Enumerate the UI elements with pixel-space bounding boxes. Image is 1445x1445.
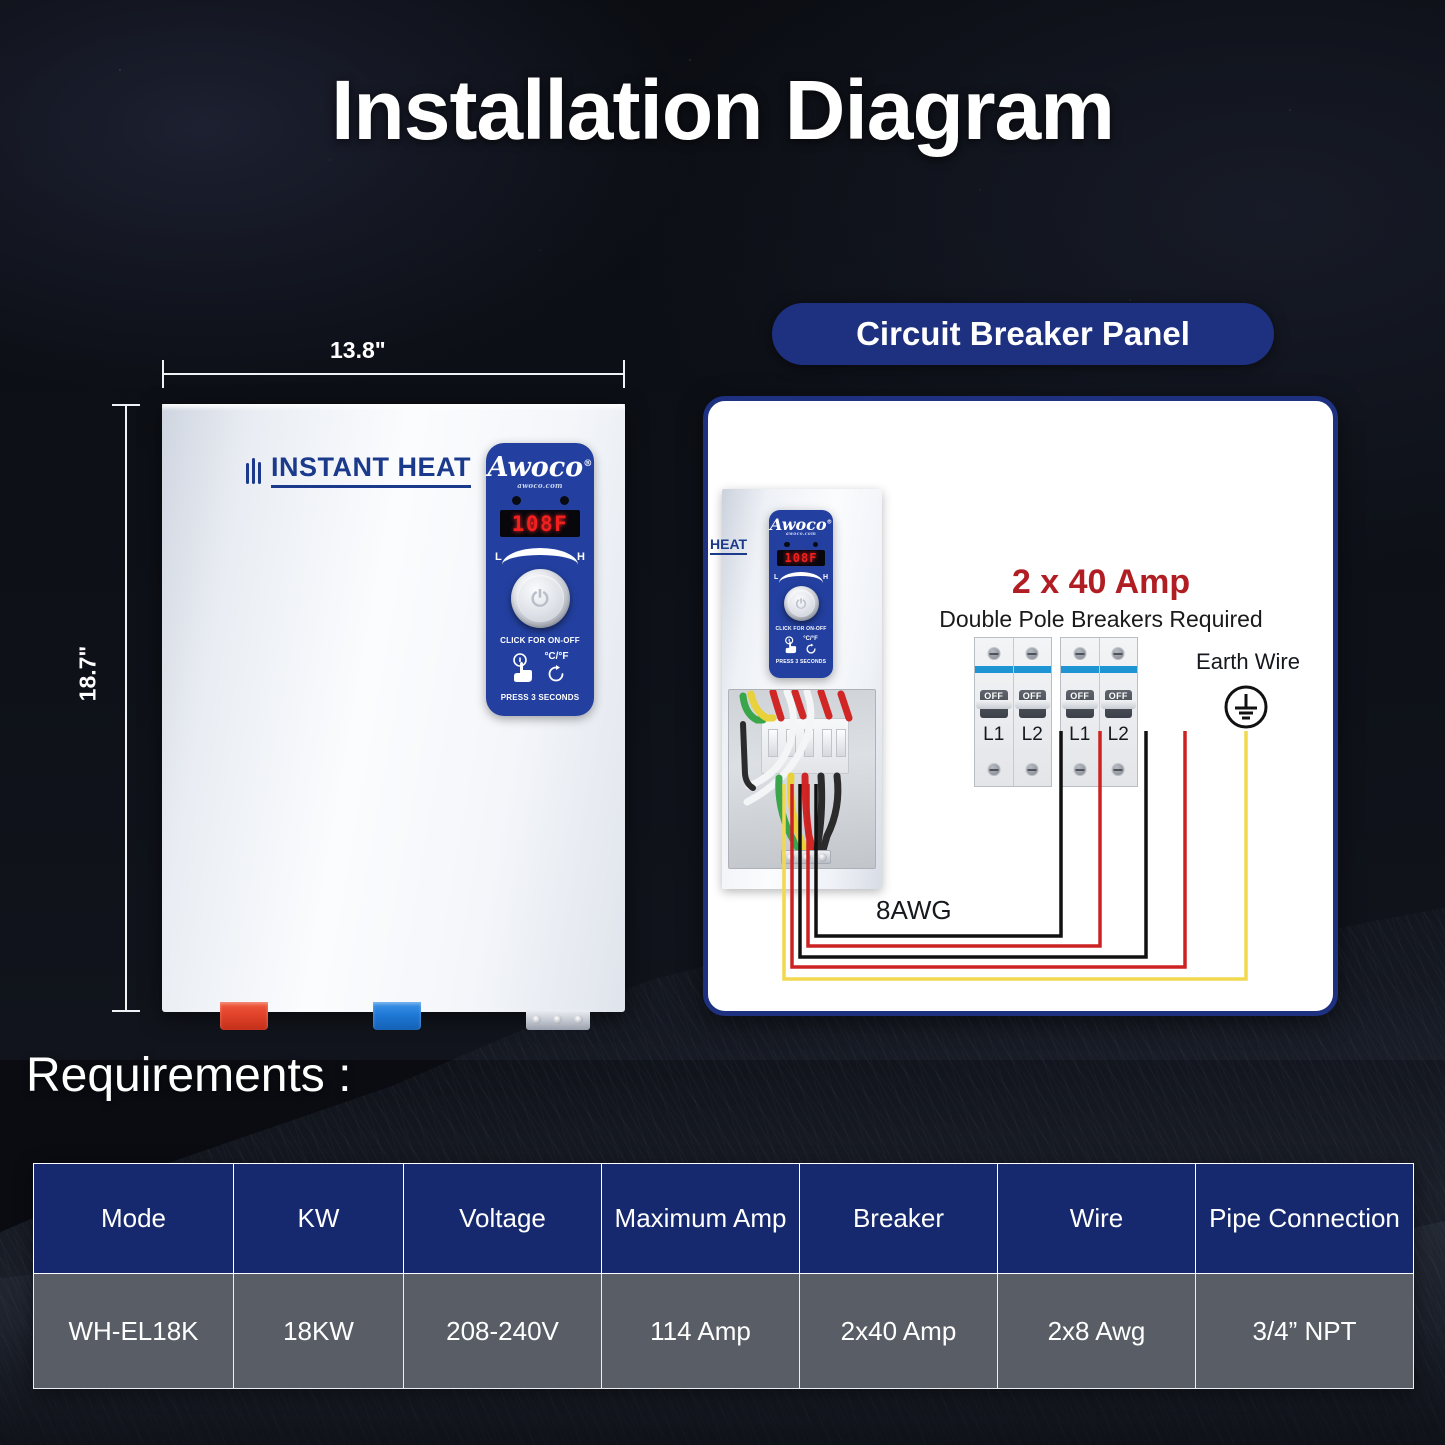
hot-outlet-fitting xyxy=(220,1002,268,1030)
requirements-heading: Requirements : xyxy=(26,1048,351,1103)
mounting-bracket xyxy=(526,1010,590,1030)
column-header-voltage: Voltage xyxy=(404,1164,602,1274)
brand-logo: Awoco® xyxy=(488,454,593,481)
power-icon-small: ⏻ xyxy=(796,597,806,610)
control-panel[interactable]: Awoco® awoco.com 108F L H ⏻ CLICK FOR ON… xyxy=(486,443,594,716)
cell-max-amp: 114 Amp xyxy=(602,1274,800,1389)
table-header-row: Mode KW Voltage Maximum Amp Breaker Wire… xyxy=(34,1164,1414,1274)
temperature-dial-scale: L H xyxy=(486,548,594,567)
cell-pipe: 3/4” NPT xyxy=(1196,1274,1414,1389)
cell-mode: WH-EL18K xyxy=(34,1274,234,1389)
brand-url-label: awoco.com xyxy=(517,482,563,489)
unit-label: °C/°F xyxy=(544,652,568,662)
wiring-routing-diagram xyxy=(708,401,1333,1011)
power-knob[interactable]: ⏻ xyxy=(511,569,570,628)
celsius-fahrenheit-toggle[interactable]: °C/°F xyxy=(544,652,568,684)
dial-low-label: L xyxy=(495,551,502,563)
column-header-breaker: Breaker xyxy=(800,1164,998,1274)
cell-kw: 18KW xyxy=(234,1274,404,1389)
table-row: WH-EL18K 18KW 208-240V 114 Amp 2x40 Amp … xyxy=(34,1274,1414,1389)
requirements-table: Mode KW Voltage Maximum Amp Breaker Wire… xyxy=(33,1163,1414,1389)
circuit-breaker-panel-card: HEAT Awoco® awoco.com 108F L H ⏻ CLICK F… xyxy=(703,396,1338,1016)
press-hand-icon xyxy=(511,653,537,683)
cell-breaker: 2x40 Amp xyxy=(800,1274,998,1389)
dial-arc xyxy=(502,548,578,565)
height-dimension-label: 18.7" xyxy=(74,646,101,702)
circuit-breaker-panel-badge: Circuit Breaker Panel xyxy=(772,303,1274,365)
temperature-display: 108F xyxy=(500,510,580,537)
instant-heat-logo: INSTANT HEAT xyxy=(246,454,471,488)
cell-wire: 2x8 Awg xyxy=(998,1274,1196,1389)
height-dimension-line xyxy=(125,404,127,1012)
indicator-leds xyxy=(512,496,569,505)
press-duration-instruction: PRESS 3 SECONDS xyxy=(501,693,580,702)
heat-waves-icon xyxy=(246,458,261,484)
refresh-cycle-icon xyxy=(546,664,566,684)
column-header-max-amp: Maximum Amp xyxy=(602,1164,800,1274)
column-header-mode: Mode xyxy=(34,1164,234,1274)
width-dimension-label: 13.8" xyxy=(330,337,386,364)
temperature-value: 108F xyxy=(512,512,569,536)
on-off-instruction: CLICK FOR ON-OFF xyxy=(500,636,580,645)
cell-voltage: 208-240V xyxy=(404,1274,602,1389)
water-heater-unit: INSTANT HEAT Awoco® awoco.com 108F L H ⏻… xyxy=(162,404,625,1012)
column-header-pipe: Pipe Connection xyxy=(1196,1164,1414,1274)
cold-inlet-fitting xyxy=(373,1002,421,1030)
page-title: Installation Diagram xyxy=(0,62,1445,159)
column-header-wire: Wire xyxy=(998,1164,1196,1274)
dial-high-label: H xyxy=(577,551,585,563)
instant-heat-label: INSTANT HEAT xyxy=(271,454,471,488)
unit-toggle-row: °C/°F xyxy=(511,652,568,684)
power-icon: ⏻ xyxy=(531,588,548,610)
column-header-kw: KW xyxy=(234,1164,404,1274)
width-dimension-line xyxy=(162,373,625,375)
